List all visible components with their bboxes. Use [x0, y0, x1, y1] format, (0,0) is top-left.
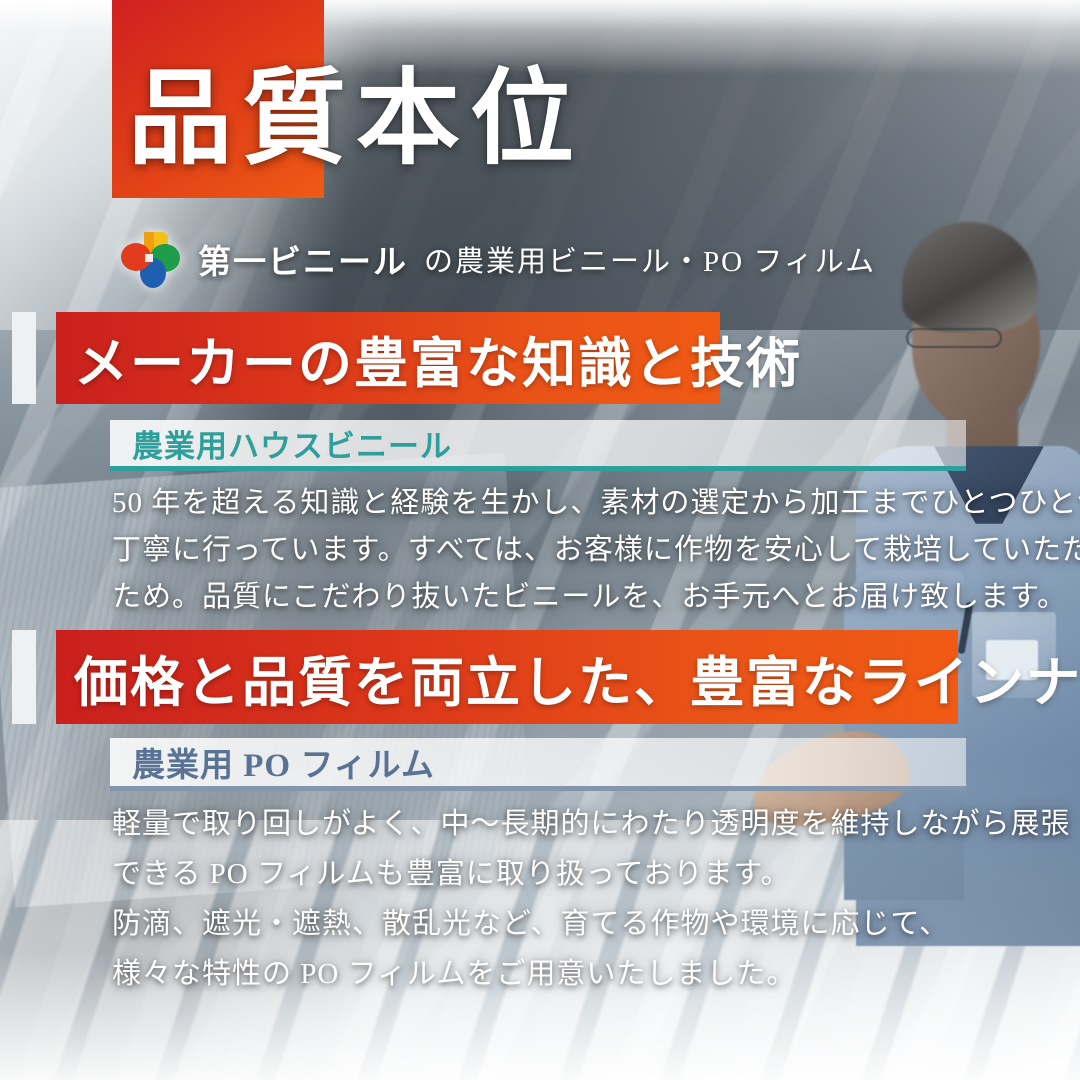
marketing-banner: 品質本位 第一ビニール の農業用ビニール・PO: [0, 0, 1080, 1080]
body-line: 50 年を超える知識と経験を生かし、素材の選定から加工までひとつひとつ: [112, 480, 1080, 527]
sub-rule-2: [110, 786, 966, 791]
sub-band-2: 農業用 PO フィルム: [110, 738, 966, 786]
brand-tagline: の農業用ビニール・PO フィルム: [424, 238, 876, 280]
section-banner-1-label: メーカーの豊富な知識と技術: [74, 319, 802, 398]
sub-heading-1: 農業用ハウスビニール: [132, 421, 452, 466]
body-line: 丁寧に行っています。すべては、お客様に作物を安心して栽培していただく: [112, 527, 1080, 574]
body-line: できる PO フィルムも豊富に取り扱っております。: [112, 850, 1071, 900]
dainichi-pinwheel-logo-icon: [120, 228, 182, 290]
sub-rule-1: [110, 466, 966, 471]
brand-line: 第一ビニール の農業用ビニール・PO フィルム: [120, 228, 876, 290]
sub-heading-2: 農業用 PO フィルム: [132, 738, 435, 786]
body-paragraph-2: 軽量で取り回しがよく、中〜長期的にわたり透明度を維持しながら展張 できる PO …: [112, 800, 1071, 1000]
body-line: ため。品質にこだわり抜いたビニールを、お手元へとお届け致します。: [112, 574, 1080, 621]
body-paragraph-1: 50 年を超える知識と経験を生かし、素材の選定から加工までひとつひとつ 丁寧に行…: [112, 480, 1080, 621]
section-banner-2-label: 価格と品質を両立した、豊富なラインナップ: [74, 638, 1080, 717]
accent-bar-2: [12, 630, 36, 724]
page-title: 品質本位: [128, 64, 584, 176]
body-line: 様々な特性の PO フィルムをご用意いたしました。: [112, 950, 1071, 1000]
brand-name: 第一ビニール: [198, 235, 408, 283]
body-line: 防滴、遮光・遮熱、散乱光など、育てる作物や環境に応じて、: [112, 900, 1071, 950]
body-line: 軽量で取り回しがよく、中〜長期的にわたり透明度を維持しながら展張: [112, 800, 1071, 850]
sub-band-1: 農業用ハウスビニール: [110, 420, 966, 466]
accent-bar-1: [12, 312, 36, 404]
section-banner-2: 価格と品質を両立した、豊富なラインナップ: [56, 630, 958, 724]
section-banner-1: メーカーの豊富な知識と技術: [56, 312, 720, 404]
